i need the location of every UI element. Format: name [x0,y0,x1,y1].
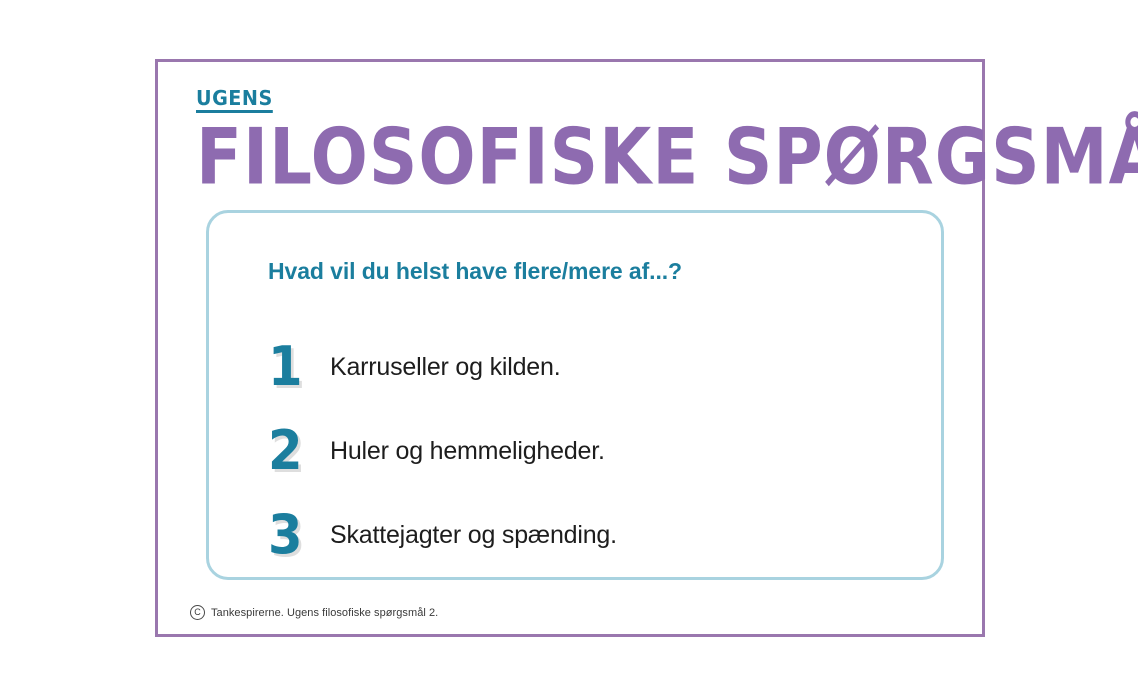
slide-header: UGENS FILOSOFISKE SPØRGSMÅL [196,88,956,183]
slide-footer: C Tankespirerne. Ugens filosofiske spørg… [190,605,438,620]
list-item: 2 Huler og hemmeligheder. [268,409,908,493]
page-title: FILOSOFISKE SPØRGSMÅL [196,122,971,194]
answer-list: 1 Karruseller og kilden. 2 Huler og hemm… [268,325,908,577]
question-heading: Hvad vil du helst have flere/mere af...? [268,258,682,285]
answer-text: Huler og hemmeligheder. [330,436,605,466]
list-item: 1 Karruseller og kilden. [268,325,908,409]
copyright-icon: C [190,605,205,620]
answer-number: 3 [268,508,325,562]
list-item: 3 Skattejagter og spænding. [268,493,908,577]
slide-canvas: UGENS FILOSOFISKE SPØRGSMÅL Hvad vil du … [0,0,1138,694]
slide-card: UGENS FILOSOFISKE SPØRGSMÅL Hvad vil du … [155,59,985,637]
answer-number: 2 [268,424,325,478]
question-panel: Hvad vil du helst have flere/mere af...?… [206,210,944,580]
footer-credit-text: Tankespirerne. Ugens filosofiske spørgsm… [211,607,438,619]
kicker-label: UGENS [196,88,273,113]
answer-number: 1 [268,340,325,394]
answer-text: Skattejagter og spænding. [330,520,617,550]
answer-text: Karruseller og kilden. [330,352,560,382]
